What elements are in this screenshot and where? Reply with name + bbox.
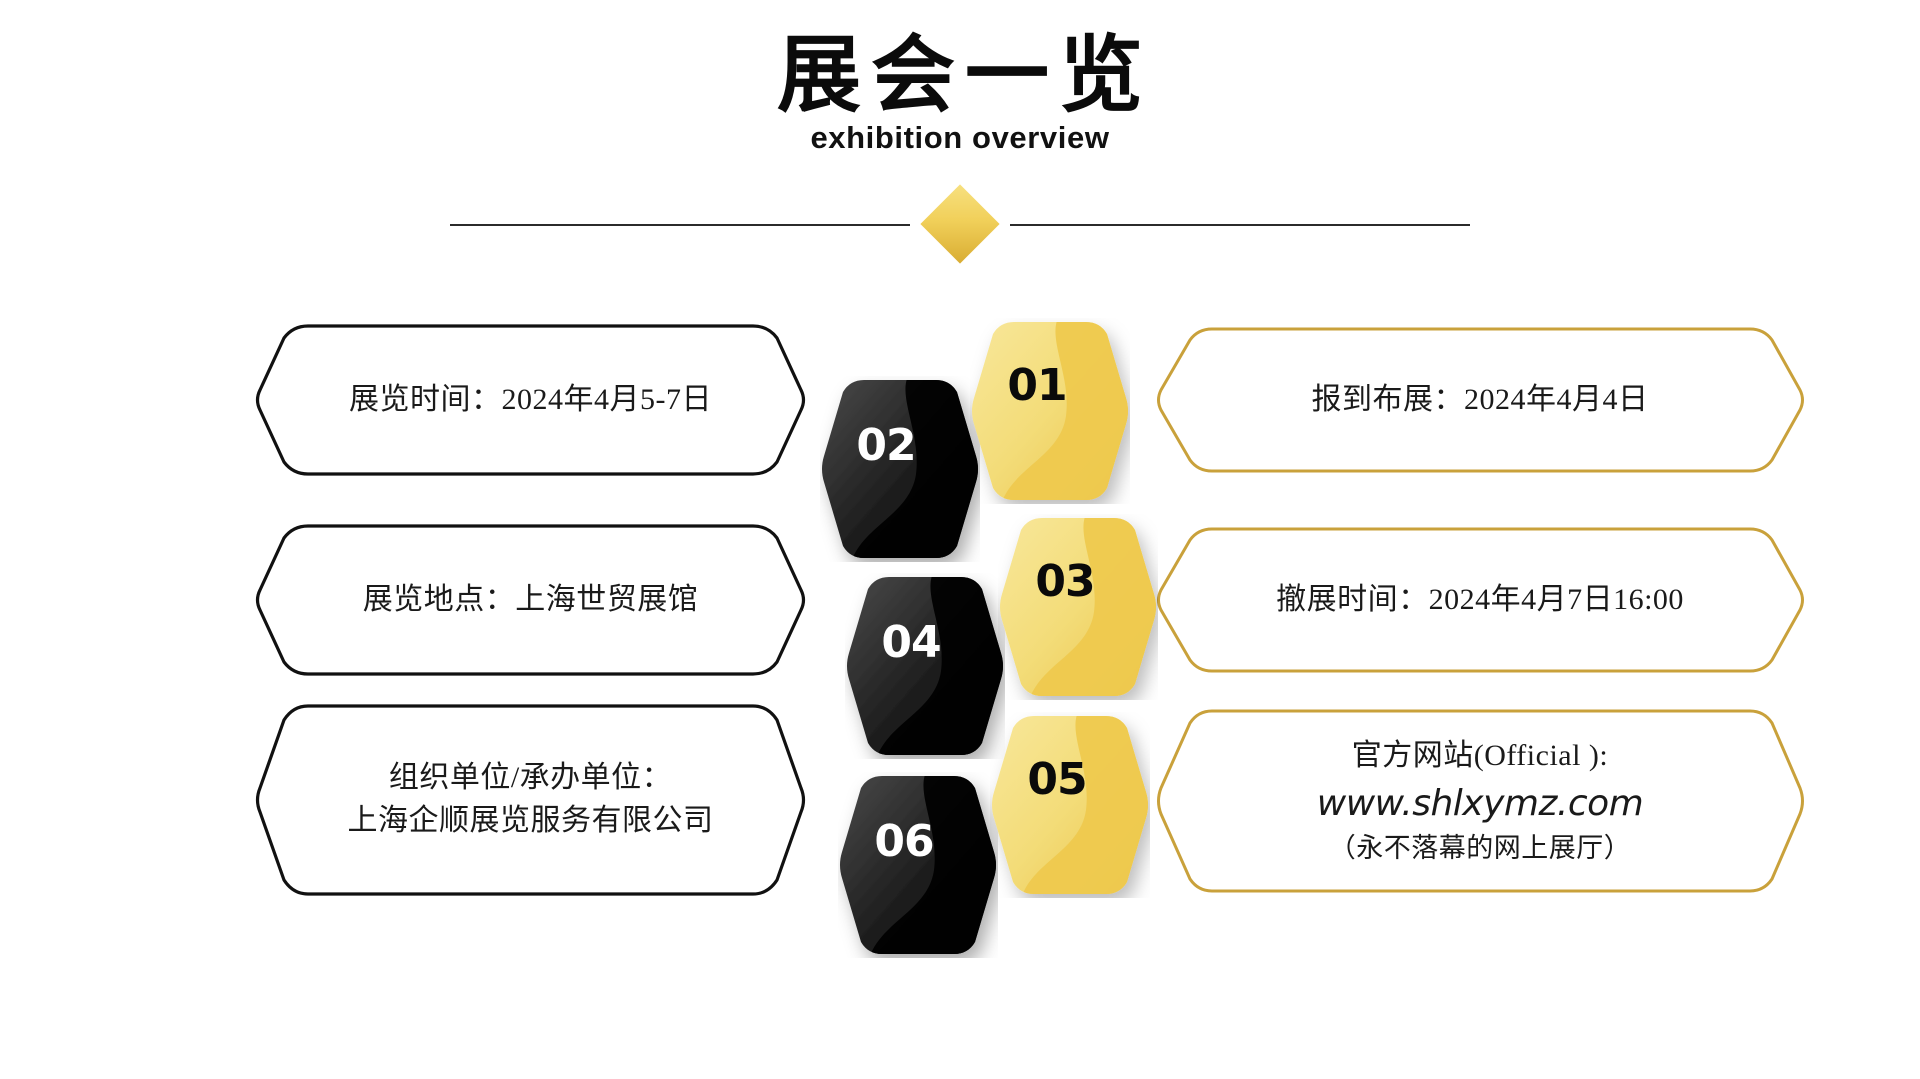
- info-banner-02-text: 展览时间：2024年4月5-7日: [309, 379, 752, 422]
- badge-hexagon-06[interactable]: 06: [838, 772, 998, 958]
- hexagon-shape-dark: [838, 772, 998, 958]
- hexagon-shape-yellow: [990, 712, 1150, 898]
- page-subtitle: exhibition overview: [0, 120, 1920, 156]
- divider: [0, 196, 1920, 276]
- divider-rule-right: [1010, 224, 1470, 226]
- info-banner-01[interactable]: 报到布展：2024年4月4日: [1150, 324, 1810, 476]
- hexagon-shape-dark: [845, 573, 1005, 759]
- info-banner-06-value: 上海企顺展览服务有限公司: [348, 800, 714, 843]
- info-banner-04[interactable]: 展览地点：上海世贸展馆: [248, 520, 813, 680]
- hexagon-shape-yellow: [998, 514, 1158, 700]
- slide-root: 展会一览 exhibition overview 展览时间：2024年4月5-7…: [0, 0, 1920, 1079]
- info-banner-05-note: （永不落幕的网上展厅）: [1317, 829, 1643, 867]
- info-banner-04-text: 展览地点：上海世贸展馆: [323, 579, 739, 622]
- badge-hexagon-05[interactable]: 05: [990, 712, 1150, 898]
- info-banner-05-text: 官方网站(Official ): www.shlxymz.com （永不落幕的网…: [1277, 735, 1683, 867]
- badge-hexagon-04[interactable]: 04: [845, 573, 1005, 759]
- page-title: 展会一览: [0, 30, 1920, 124]
- hexagon-shape-dark: [820, 376, 980, 562]
- info-banner-05[interactable]: 官方网站(Official ): www.shlxymz.com （永不落幕的网…: [1150, 706, 1810, 896]
- info-banner-05-label: 官方网站(Official ):: [1317, 735, 1643, 778]
- title-block: 展会一览 exhibition overview: [0, 30, 1920, 156]
- info-banner-03[interactable]: 撤展时间：2024年4月7日16:00: [1150, 524, 1810, 676]
- info-banner-06-text: 组织单位/承办单位： 上海企顺展览服务有限公司: [308, 757, 754, 842]
- diamond-icon: [920, 184, 999, 263]
- info-banner-05-website[interactable]: www.shlxymz.com: [1317, 778, 1643, 829]
- divider-rule-left: [450, 224, 910, 226]
- badge-hexagon-03[interactable]: 03: [998, 514, 1158, 700]
- info-banner-03-text: 撤展时间：2024年4月7日16:00: [1236, 579, 1724, 622]
- badge-hexagon-01[interactable]: 01: [970, 318, 1130, 504]
- info-banner-02[interactable]: 展览时间：2024年4月5-7日: [248, 320, 813, 480]
- info-banner-06[interactable]: 组织单位/承办单位： 上海企顺展览服务有限公司: [248, 700, 813, 900]
- badge-hexagon-02[interactable]: 02: [820, 376, 980, 562]
- info-banner-06-label: 组织单位/承办单位：: [348, 757, 714, 800]
- hexagon-shape-yellow: [970, 318, 1130, 504]
- info-banner-01-text: 报到布展：2024年4月4日: [1272, 379, 1689, 422]
